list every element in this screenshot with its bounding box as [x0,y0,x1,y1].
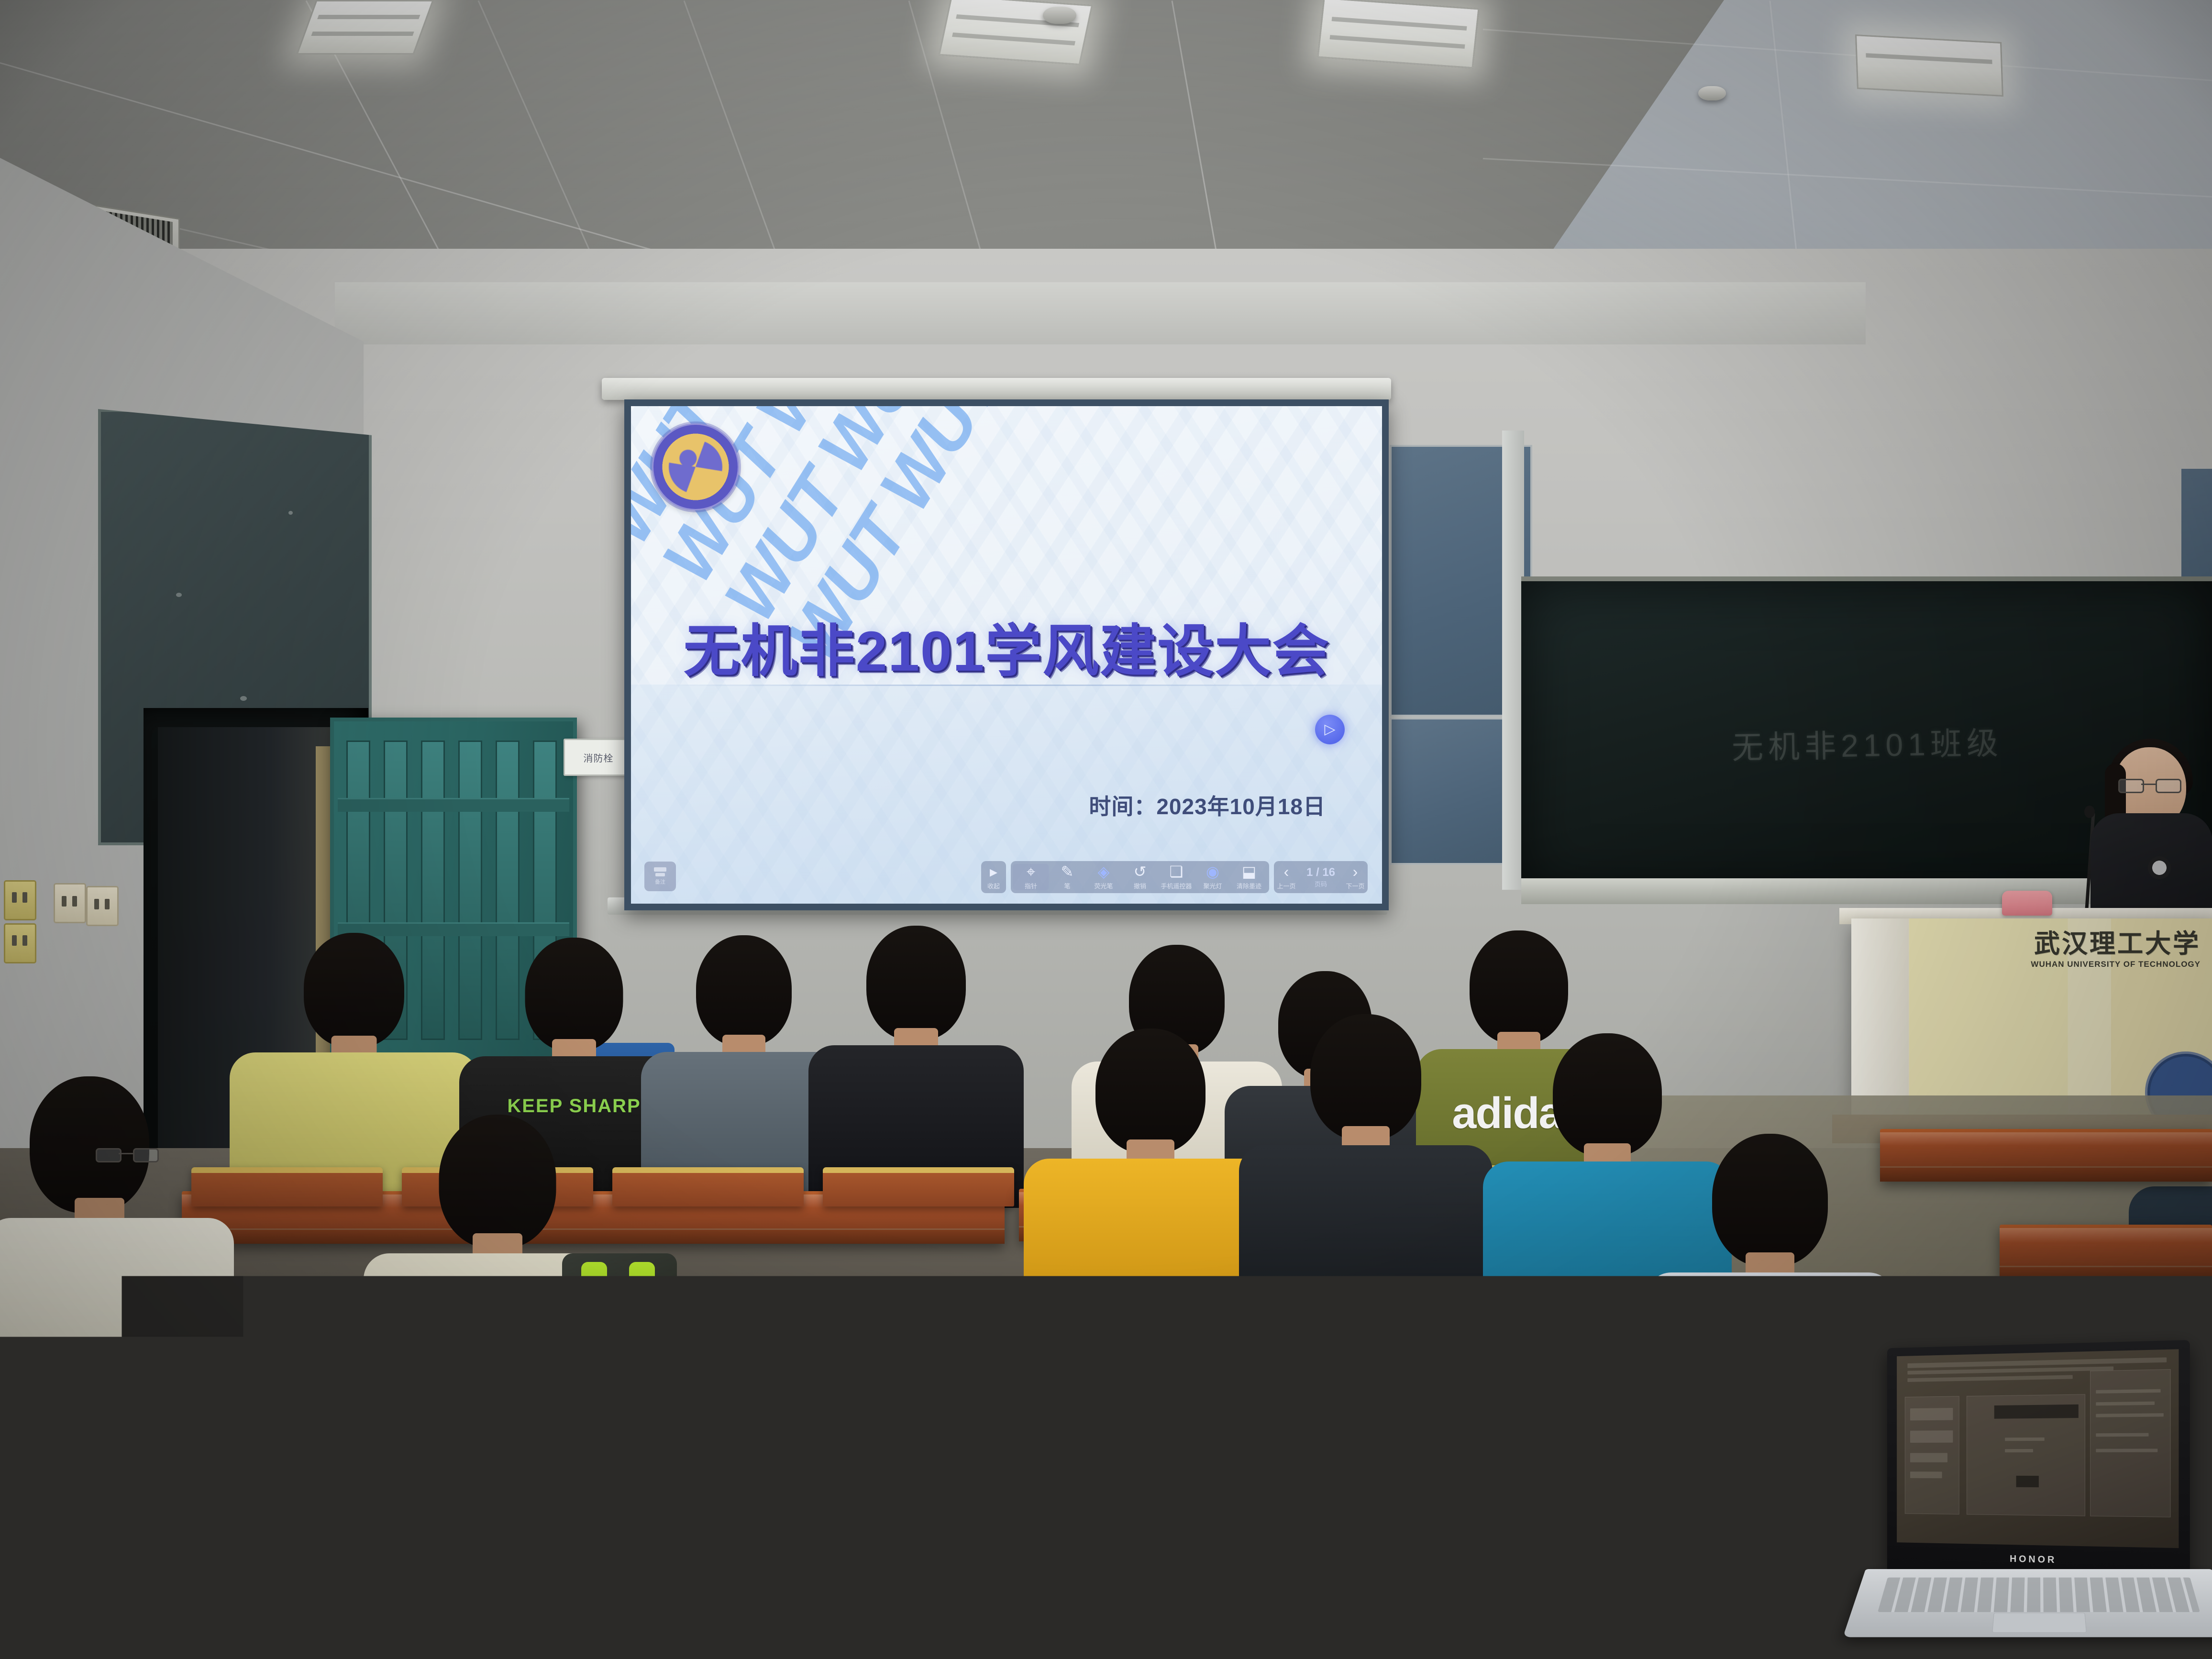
erase-all-icon: ⬓ [1242,864,1256,879]
chevron-left-icon: ‹ [1284,864,1289,879]
seat-back [1014,1290,1244,1333]
seat-back [545,1294,775,1338]
power-outlet[interactable] [4,880,36,920]
podium-branding: 武汉理工大学 WUHAN UNIVERSITY OF TECHNOLOGY [2031,931,2201,969]
presenter-person [2090,737,2212,938]
undo-icon: ↺ [1134,864,1147,879]
podium-left-face [1851,918,1909,1119]
seat-back [1263,1290,1493,1333]
cursor-pointer-icon: ⌖ [1027,864,1035,879]
audience-student [808,926,1024,1208]
screen-split-icon: ❏ [1170,864,1183,879]
pen-icon: ✎ [1061,864,1074,879]
tool-highlighter[interactable]: ◈ 荧光笔 [1085,864,1122,890]
next-slide-button[interactable]: › 下一页 [1345,864,1366,890]
seat-back [1378,1449,1607,1503]
front-lecture-desk [1086,1488,1756,1659]
tool-pen-label: 笔 [1064,881,1070,890]
glasses-icon [2118,779,2179,790]
laptop-brand-label: HONOR [1887,1551,2190,1569]
ceiling-light-fixture [296,0,433,55]
projector-screen-case [602,378,1391,400]
chevron-right-icon: › [1353,864,1358,879]
next-slide-label: 下一页 [1346,881,1364,890]
seat-back [985,1440,1177,1493]
wps-play-icon[interactable]: ▷ [1315,715,1345,744]
presenter-toolbar[interactable]: ▸ 收起 ⌖ 指针 ✎ 笔 ◈ 荧光笔 [981,861,1368,893]
seat-back [823,1167,1014,1206]
seat-back [297,1294,526,1338]
front-lecture-desk [0,1478,1091,1659]
power-outlet[interactable] [4,923,36,963]
highlighter-icon: ◈ [1098,864,1110,879]
podium-brand-en: WUHAN UNIVERSITY OF TECHNOLOGY [2031,960,2201,969]
tool-pointer[interactable]: ⌖ 指针 [1013,864,1049,890]
tool-erase-all[interactable]: ⬓ 清除墨迹 [1231,864,1267,890]
glasses-icon [96,1148,156,1160]
power-outlet[interactable] [86,886,119,926]
seat-back [560,1438,789,1491]
seat-back [0,1445,81,1493]
lecture-desk-row [2000,1225,2212,1282]
blackboard-eraser [2002,891,2052,916]
ceiling-light-fixture [1855,34,2003,97]
toolbar-collapse-button[interactable]: ▸ 收起 [983,864,1004,890]
wall-sign: 消防栓 [564,739,633,776]
tool-phone-remote[interactable]: ❏ 手机遥控器 [1158,864,1194,890]
slide-page-indicator: 1 / 16 页码 [1297,864,1345,890]
spotlight-icon: ◉ [1206,864,1219,879]
ceiling-light-fixture [1317,0,1479,68]
tool-spotlight-label: 聚光灯 [1203,881,1222,890]
laptop-keyboard[interactable] [1878,1578,2200,1612]
slide-page-number: 1 / 16 [1306,866,1335,879]
tool-spotlight[interactable]: ◉ 聚光灯 [1194,864,1231,890]
toolbar-collapse-label: 收起 [987,881,1000,890]
tool-erase-all-label: 清除墨迹 [1237,881,1261,890]
chevron-right-icon: ▸ [990,864,997,879]
tool-pen[interactable]: ✎ 笔 [1049,864,1085,890]
slide-date: 时间：2023年10月18日 [1089,789,1326,821]
student-shirt [1646,1272,1894,1469]
classroom-photo-scene: 消防栓 无机非2101班级 WUT WUT WUT WUT WUT WUT WU… [0,0,2212,1659]
blackboard-chalk-text: 无机非2101班级 [1731,718,2003,768]
student-shirt [0,1218,234,1419]
audience-student [1646,1134,1894,1469]
audience-student [0,1076,249,1421]
laptop-screen[interactable]: HONOR [1887,1340,2190,1578]
prev-slide-button[interactable]: ‹ 上一页 [1276,864,1297,890]
laptop-display-content [1897,1349,2179,1548]
seat-back [120,1440,349,1493]
projection-screen: WUT WUT WUT WUT WUT WUT WUT WUT 无机非2101学… [624,399,1389,910]
seat-back [1512,1290,1655,1333]
tool-pointer-label: 指针 [1025,881,1037,890]
power-outlet[interactable] [54,883,86,923]
slide-notes-button[interactable]: 备注 [644,862,676,891]
slide-page-sub-label: 页码 [1315,879,1327,888]
tool-highlighter-label: 荧光笔 [1094,881,1113,890]
toolbar-pager-group[interactable]: ‹ 上一页 1 / 16 页码 › 下一页 [1274,861,1368,893]
laptop-touchpad[interactable] [1992,1613,2086,1632]
podium-brand-cn: 武汉理工大学 [2031,931,2201,957]
presentation-slide[interactable]: WUT WUT WUT WUT WUT WUT WUT WUT 无机非2101学… [631,406,1382,904]
slide-notes-label: 备注 [655,878,665,885]
wut-university-seal-logo [652,423,739,510]
toolbar-tools-group[interactable]: ⌖ 指针 ✎ 笔 ◈ 荧光笔 ↺ 撤销 [1011,861,1269,893]
wall-soffit-beam [335,282,1866,344]
toolbar-expand-group[interactable]: ▸ 收起 [981,861,1006,893]
smoke-detector-icon [1043,7,1076,24]
seat-back [794,1294,1024,1338]
slide-title: 无机非2101学风建设大会 [631,605,1382,687]
smoke-detector-icon [1698,86,1726,100]
tool-phone-remote-label: 手机遥控器 [1161,881,1192,890]
lecture-desk-row [1880,1129,2212,1182]
tool-undo[interactable]: ↺ 撤销 [1122,864,1158,890]
prev-slide-label: 上一页 [1277,881,1295,890]
tool-undo-label: 撤销 [1134,881,1146,890]
laptop-keyboard-deck[interactable] [1843,1569,2212,1637]
audience-student [1239,1014,1493,1325]
seat-back [612,1167,804,1206]
